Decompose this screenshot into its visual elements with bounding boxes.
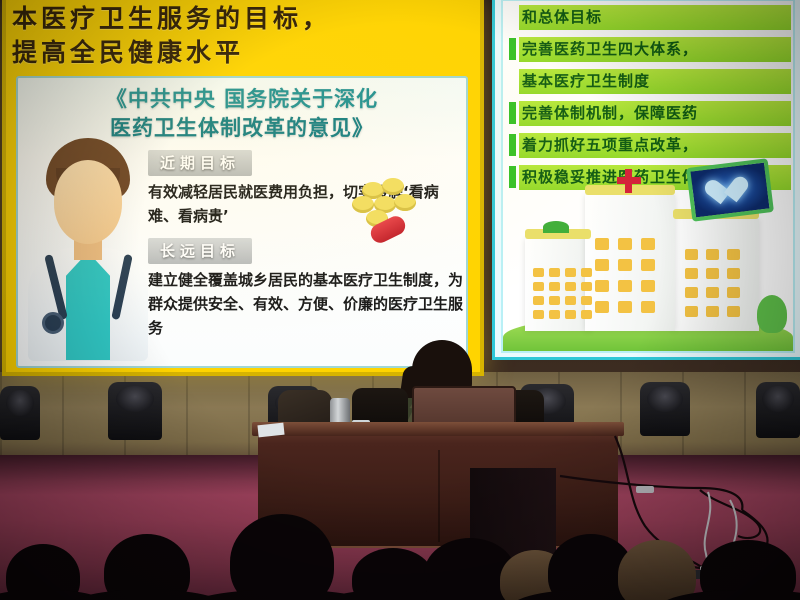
list-item-label: 完善医药卫生四大体系， bbox=[519, 37, 791, 62]
list-item-label: 和总体目标 bbox=[519, 5, 791, 30]
bullet-marker-icon bbox=[509, 102, 516, 124]
right-screen-inner: 和总体目标 完善医药卫生四大体系， 基本医疗卫生制度 完善体制机制，保障医药 着… bbox=[501, 0, 795, 353]
red-cross-icon-bar bbox=[617, 177, 641, 184]
list-item: 完善医药卫生四大体系， bbox=[509, 35, 791, 63]
slide-card: 《中共中央 国务院关于深化 医药卫生体制改革的意见》 近期目标 有效减轻居民就医… bbox=[16, 76, 468, 368]
heart-icon bbox=[718, 177, 751, 208]
yellow-banner: 本医疗卫生服务的目标， 提高全民健康水平 bbox=[6, 0, 480, 74]
pills-icon bbox=[348, 178, 426, 250]
left-projection-screen: 本医疗卫生服务的目标， 提高全民健康水平 《中共中央 国务院关于深化 医药卫生体… bbox=[2, 0, 484, 376]
tree-icon bbox=[757, 295, 787, 333]
list-item: 和总体目标 bbox=[509, 3, 791, 31]
slide-title-line-1: 《中共中央 国务院关于深化 bbox=[18, 84, 466, 113]
list-item-label: 完善体制机制，保障医药 bbox=[519, 101, 791, 126]
audience-head bbox=[230, 514, 334, 600]
audience-head bbox=[700, 540, 796, 600]
list-item-label: 基本医疗卫生制度 bbox=[519, 69, 791, 94]
stage-light bbox=[640, 382, 690, 436]
sprout-icon bbox=[543, 221, 569, 233]
heart-monitor-icon bbox=[686, 158, 774, 222]
near-term-goal-tag: 近期目标 bbox=[148, 150, 252, 176]
bullet-marker-icon bbox=[509, 38, 516, 60]
list-item-label: 着力抓好五项重点改革， bbox=[519, 133, 791, 158]
right-projection-screen: 和总体目标 完善医药卫生四大体系， 基本医疗卫生制度 完善体制机制，保障医药 着… bbox=[492, 0, 800, 360]
stethoscope-bell bbox=[42, 312, 64, 334]
doctor-illustration bbox=[22, 136, 152, 361]
goal-section-long-term: 长远目标 建立健全覆盖城乡居民的基本医疗卫生制度，为群众提供安全、有效、方便、价… bbox=[148, 238, 466, 340]
audience-head bbox=[6, 544, 80, 600]
list-item: 完善体制机制，保障医药 bbox=[509, 99, 791, 127]
list-item: 着力抓好五项重点改革， bbox=[509, 131, 791, 159]
window-grid-right bbox=[685, 249, 740, 317]
list-item: 基本医疗卫生制度 bbox=[509, 67, 791, 95]
long-term-goal-text: 建立健全覆盖城乡居民的基本医疗卫生制度，为群众提供安全、有效、方便、价廉的医疗卫… bbox=[148, 268, 466, 340]
lecture-hall-photo: 本医疗卫生服务的目标， 提高全民健康水平 《中共中央 国务院关于深化 医药卫生体… bbox=[0, 0, 800, 600]
long-term-goal-tag: 长远目标 bbox=[148, 238, 252, 264]
hospital-illustration bbox=[503, 191, 793, 353]
audience-head-light-hair bbox=[618, 540, 696, 600]
audience-head bbox=[104, 534, 190, 600]
slide-title: 《中共中央 国务院关于深化 医药卫生体制改革的意见》 bbox=[18, 78, 466, 142]
doctor-face bbox=[54, 160, 122, 244]
bullet-marker-icon bbox=[509, 166, 516, 188]
banner-line-2: 提高全民健康水平 bbox=[12, 36, 480, 70]
window-grid-main bbox=[595, 238, 655, 313]
audience bbox=[0, 500, 800, 600]
bullet-marker-icon bbox=[509, 134, 516, 156]
banner-line-1: 本医疗卫生服务的目标， bbox=[12, 2, 480, 36]
window-grid-small bbox=[533, 268, 592, 319]
